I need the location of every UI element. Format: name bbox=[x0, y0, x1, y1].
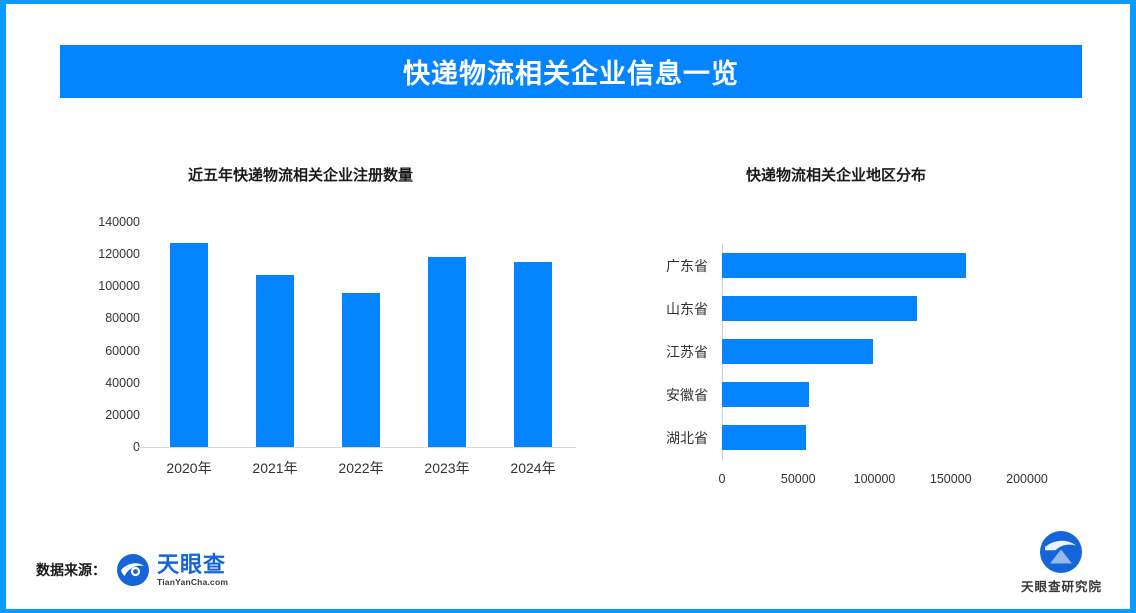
data-source: 数据来源： 天眼查 TianYanCha.com bbox=[36, 553, 228, 587]
x-axis-ticks: 050000100000150000200000 bbox=[722, 472, 1032, 492]
horizontal-bar-chart: 广东省山东省江苏省安徽省湖北省 050000100000150000200000 bbox=[722, 244, 1032, 484]
x-axis-tick-label: 150000 bbox=[930, 472, 972, 486]
bar-row: 广东省 bbox=[722, 244, 1032, 287]
bar-group bbox=[404, 222, 490, 447]
bar-group bbox=[146, 222, 232, 447]
category-label: 广东省 bbox=[666, 256, 708, 276]
bar-group bbox=[490, 222, 576, 447]
bar[interactable] bbox=[722, 382, 809, 407]
y-axis-tick-label: 120000 bbox=[98, 247, 140, 261]
tianyancha-wordmark: 天眼查 TianYanCha.com bbox=[157, 554, 228, 587]
y-axis-tick-label: 60000 bbox=[105, 344, 140, 358]
x-axis-tick-label: 2024年 bbox=[490, 458, 576, 478]
y-axis-tick-label: 20000 bbox=[105, 408, 140, 422]
bar[interactable] bbox=[722, 253, 966, 278]
page-title: 快递物流相关企业信息一览 bbox=[403, 52, 739, 91]
horizontal-bars: 广东省山东省江苏省安徽省湖北省 bbox=[722, 244, 1032, 460]
bar-group bbox=[232, 222, 318, 447]
tianyancha-logo: 天眼查 TianYanCha.com bbox=[116, 553, 228, 587]
brand-name: 天眼查研究院 bbox=[1021, 576, 1102, 595]
x-axis-tick-label: 2023年 bbox=[404, 458, 490, 478]
bar[interactable] bbox=[342, 293, 380, 447]
tianyancha-name-en: TianYanCha.com bbox=[157, 578, 228, 587]
infographic-page: 快递物流相关企业信息一览 近五年快递物流相关企业注册数量 02000040000… bbox=[0, 0, 1136, 613]
bar[interactable] bbox=[722, 425, 806, 450]
x-axis-tick-label: 2022年 bbox=[318, 458, 404, 478]
x-axis-line bbox=[138, 447, 576, 448]
bar[interactable] bbox=[256, 275, 294, 447]
bar-row: 安徽省 bbox=[722, 373, 1032, 416]
category-label: 山东省 bbox=[666, 299, 708, 319]
chart-title-registrations: 近五年快递物流相关企业注册数量 bbox=[188, 164, 413, 185]
category-label: 湖北省 bbox=[666, 428, 708, 448]
bar[interactable] bbox=[170, 243, 208, 447]
x-axis-tick-label: 50000 bbox=[781, 472, 816, 486]
chart-panel-regions: 快递物流相关企业地区分布 广东省山东省江苏省安徽省湖北省 05000010000… bbox=[626, 144, 1086, 514]
vertical-bars: 2020年2021年2022年2023年2024年 bbox=[146, 222, 576, 447]
chart-panel-registrations: 近五年快递物流相关企业注册数量 020000400006000080000100… bbox=[66, 144, 596, 514]
title-banner: 快递物流相关企业信息一览 bbox=[60, 45, 1082, 98]
brand-footer: 天眼查研究院 bbox=[1021, 530, 1102, 595]
bar-row: 山东省 bbox=[722, 287, 1032, 330]
y-axis-tick-label: 100000 bbox=[98, 279, 140, 293]
category-label: 安徽省 bbox=[666, 385, 708, 405]
data-source-label: 数据来源： bbox=[36, 560, 106, 580]
x-axis-tick-label: 200000 bbox=[1006, 472, 1048, 486]
research-institute-icon bbox=[1039, 530, 1083, 574]
bar[interactable] bbox=[722, 339, 873, 364]
bar-row: 湖北省 bbox=[722, 416, 1032, 459]
x-axis-tick-label: 2021年 bbox=[232, 458, 318, 478]
tianyancha-name-cn: 天眼查 bbox=[157, 554, 228, 576]
y-axis-tick-label: 140000 bbox=[98, 215, 140, 229]
x-axis-tick-label: 2020年 bbox=[146, 458, 232, 478]
bar[interactable] bbox=[514, 262, 552, 447]
tianyancha-eye-icon bbox=[116, 553, 150, 587]
y-axis-ticks: 020000400006000080000100000120000140000 bbox=[74, 222, 140, 447]
bar-row: 江苏省 bbox=[722, 330, 1032, 373]
chart-title-regions: 快递物流相关企业地区分布 bbox=[746, 164, 926, 185]
category-label: 江苏省 bbox=[666, 342, 708, 362]
bar[interactable] bbox=[428, 257, 466, 447]
y-axis-tick-label: 40000 bbox=[105, 376, 140, 390]
x-axis-tick-label: 100000 bbox=[854, 472, 896, 486]
x-axis-tick-label: 0 bbox=[719, 472, 726, 486]
y-axis-tick-label: 80000 bbox=[105, 311, 140, 325]
vertical-bar-chart: 020000400006000080000100000120000140000 … bbox=[146, 222, 576, 462]
bar[interactable] bbox=[722, 296, 917, 321]
bar-group bbox=[318, 222, 404, 447]
